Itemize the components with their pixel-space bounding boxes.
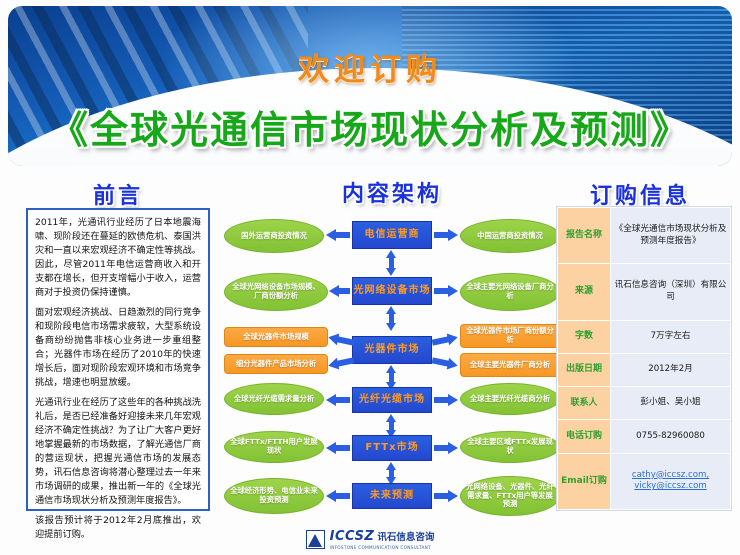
logo-text-block: ICCSZ 讯石信息咨询 INFOSTONE COMMUNICATION CON…: [330, 529, 435, 550]
diagram-node-center: 未来预测: [352, 483, 432, 509]
arrow-right: [434, 286, 458, 296]
arrow-right: [434, 395, 458, 405]
diagram-node-left: 全球经济形势、电信业未来投资预测: [224, 478, 324, 514]
arrow-right: [434, 491, 458, 501]
diagram-node-left: 全球FTTx/FTTH用户发展现状: [224, 431, 324, 463]
order-info-panel: 报告名称 《全球光通信市场现状分析及预测年度报告》 来源 讯石信息咨询（深圳）有…: [556, 206, 732, 511]
diagram-node-right: 全球主要光网络设备厂商分析: [460, 273, 560, 311]
table-row: 出版日期 2012年2月: [558, 353, 731, 386]
diagram-node-center: 光纤光缆市场: [352, 387, 432, 413]
arrow-right: [431, 331, 459, 348]
arrow-vertical: [386, 306, 397, 331]
diagram-node-left: 国外运营商投资情况: [224, 219, 324, 253]
logo-primary-row: ICCSZ 讯石信息咨询: [330, 529, 435, 544]
diagram-node-right: 中国运营商投资情况: [460, 219, 560, 253]
arrow-vertical: [386, 462, 397, 485]
table-row: 联系人 彭小姐、吴小姐: [558, 387, 731, 420]
footer-logo-bar: ICCSZ 讯石信息咨询 INFOSTONE COMMUNICATION CON…: [0, 526, 740, 552]
diagram-node-left: 全球光网络设备市场规模、厂商份额分析: [224, 273, 328, 311]
triangle-shape: [308, 534, 322, 547]
email-order-text[interactable]: cathy@iccsz.com, vicky@iccsz.com: [632, 470, 709, 492]
diagram-node-center: 光网络设备市场: [352, 277, 432, 305]
arrow-vertical: [386, 250, 397, 276]
arrow-left: [326, 230, 350, 240]
section-heading-structure: 内容架构: [252, 176, 532, 208]
table-row: 报告名称 《全球光通信市场现状分析及预测年度报告》: [558, 208, 731, 264]
diagram-node-left: 全球光器件市场规模: [224, 327, 328, 347]
table-cell-value: 讯石信息咨询（深圳）有限公司: [611, 264, 731, 320]
poster-main-title: 《全球光通信市场现状分析及预测》: [8, 99, 732, 154]
table-cell-value: 0755-82960080: [611, 420, 731, 453]
table-row: 字数 7万字左右: [558, 320, 731, 353]
arrow-right: [434, 443, 458, 453]
poster-page: 欢迎订购 《全球光通信市场现状分析及预测》 前言 内容架构 订购信息 2011年…: [0, 0, 740, 555]
table-cell-key: 联系人: [558, 387, 611, 420]
arrow-left: [326, 443, 350, 453]
arrow-left: [327, 354, 355, 371]
table-cell-value: 7万字左右: [611, 320, 731, 353]
arrow-right: [434, 230, 458, 240]
table-row: 来源 讯石信息咨询（深圳）有限公司: [558, 264, 731, 320]
table-cell-key: 来源: [558, 264, 611, 320]
table-cell-key: 报告名称: [558, 208, 611, 264]
order-info-table: 报告名称 《全球光通信市场现状分析及预测年度报告》 来源 讯石信息咨询（深圳）有…: [557, 207, 731, 510]
table-cell-value: 彭小姐、吴小姐: [611, 387, 731, 420]
arrow-left: [326, 491, 350, 501]
diagram-node-left: 全球光纤光缆需求量分析: [224, 383, 324, 415]
welcome-text: 欢迎订购: [8, 44, 732, 89]
diagram-node-center: FTTx市场: [352, 435, 432, 461]
diagram-node-right: 光网络设备、光器件、光纤需求量、FTTx用户等发展预测: [460, 476, 560, 516]
table-cell-key: 电话订购: [558, 420, 611, 453]
arrow-right: [431, 354, 459, 371]
table-cell-value: 《全球光通信市场现状分析及预测年度报告》: [611, 208, 731, 264]
content-structure-diagram: 国外运营商投资情况 电信运营商 中国运营商投资情况 全球光网络设备市场规模、厂商…: [224, 205, 554, 515]
diagram-node-right: 全球主要光器件厂商分析: [460, 353, 560, 377]
logo-brand-en: ICCSZ: [330, 529, 375, 544]
header-banner: 欢迎订购 《全球光通信市场现状分析及预测》: [8, 6, 732, 166]
email-order-link[interactable]: cathy@iccsz.com, vicky@iccsz.com: [611, 453, 731, 509]
table-cell-value: 2012年2月: [611, 353, 731, 386]
table-cell-key: 字数: [558, 320, 611, 353]
table-cell-key: 出版日期: [558, 353, 611, 386]
logo-subtitle: INFOSTONE COMMUNICATION CONSULTANT: [330, 545, 435, 550]
preface-paragraph: 面对宏观经济挑战、日趋激烈的同行竞争和现阶段电信市场需求疲软，大型系统设备商纷纷…: [35, 306, 201, 390]
preface-text-box: 2011年，光通讯行业经历了日本地震海啸、现阶段还在蔓延的欧债危机、泰国洪灾和一…: [26, 208, 210, 511]
diagram-node-left: 细分光器件产品市场分析: [224, 354, 328, 374]
section-heading-preface: 前言: [18, 178, 218, 210]
preface-paragraph: 2011年，光通讯行业经历了日本地震海啸、现阶段还在蔓延的欧债危机、泰国洪灾和一…: [35, 216, 201, 300]
diagram-node-right: 全球光器件市场厂商份额分析: [460, 324, 560, 348]
arrow-left: [329, 286, 350, 296]
arrow-left: [326, 395, 350, 405]
preface-paragraph: 光通讯行业在经历了这些年的各种挑战洗礼后，是否已经准备好迎接未来几年宏观经济不确…: [35, 396, 201, 508]
diagram-node-right: 全球主要区域FTTx发展现状: [460, 431, 560, 463]
table-row: 电话订购 0755-82960080: [558, 420, 731, 453]
diagram-node-center: 电信运营商: [352, 221, 432, 249]
diagram-node-right: 全球主要光纤光缆商分析: [460, 383, 560, 415]
iccsz-triangle-icon: [306, 530, 325, 549]
table-cell-key: Email订购: [558, 453, 611, 509]
logo-brand-cn: 讯石信息咨询: [377, 529, 434, 543]
arrow-left: [327, 331, 355, 348]
diagram-node-center: 光器件市场: [352, 336, 432, 364]
table-row: Email订购 cathy@iccsz.com, vicky@iccsz.com: [558, 453, 731, 509]
